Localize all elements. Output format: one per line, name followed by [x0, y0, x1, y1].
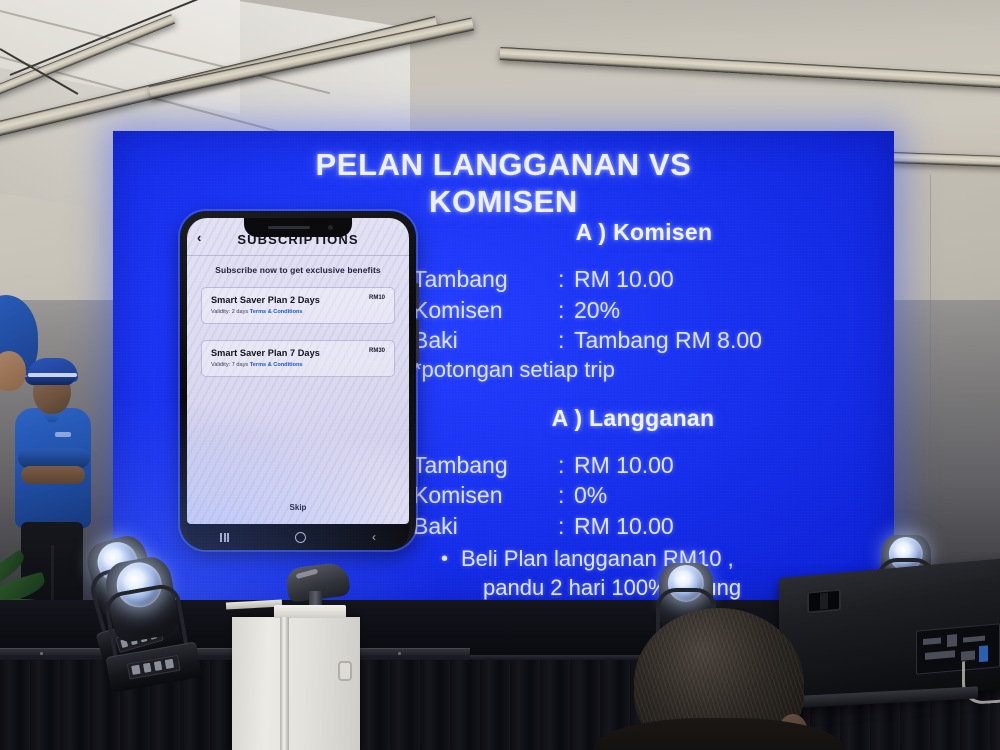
phone-power-button: [416, 319, 419, 363]
phone-mockup: ‹ SUBSCRIPTIONS Subscribe now to get exc…: [180, 211, 416, 550]
row-separator: :: [558, 450, 574, 481]
terms-link[interactable]: Terms & Conditions: [250, 309, 303, 315]
phone-screen: ‹ SUBSCRIPTIONS Subscribe now to get exc…: [187, 218, 409, 524]
row-label: Baki: [413, 325, 558, 356]
row-separator: :: [558, 264, 574, 295]
slide-section-komisen: A ) Komisen Tambang : RM 10.00 Komisen :…: [413, 219, 883, 383]
validity-label: Validity:: [211, 309, 230, 315]
row-label: Tambang: [413, 450, 558, 481]
komisen-row-komisen: Komisen : 20%: [413, 295, 883, 326]
case-latch[interactable]: [338, 661, 352, 681]
section-heading-langganan: A ) Langganan: [383, 405, 883, 432]
white-flight-case: [232, 617, 360, 750]
clamp-highlight: [296, 569, 319, 580]
phone-notch: [244, 218, 352, 237]
plan-meta: Validity: 2 days Terms & Conditions: [211, 309, 385, 315]
skip-button[interactable]: Skip: [187, 503, 409, 512]
validity-value: 7 days: [232, 362, 248, 368]
back-chevron-icon[interactable]: ‹: [197, 231, 201, 244]
langganan-row-baki: Baki : RM 10.00: [413, 511, 883, 542]
row-value: RM 10.00: [574, 264, 883, 295]
plan-card-2-days[interactable]: Smart Saver Plan 2 Days RM10 Validity: 2…: [201, 287, 395, 324]
langganan-row-tambang: Tambang : RM 10.00: [413, 450, 883, 481]
validity-label: Validity:: [211, 362, 230, 368]
home-icon[interactable]: [295, 532, 306, 543]
plan-name: Smart Saver Plan 2 Days: [211, 295, 385, 305]
front-camera-icon: [328, 225, 333, 230]
plan-name: Smart Saver Plan 7 Days: [211, 348, 385, 358]
row-separator: :: [558, 295, 574, 326]
row-value: 20%: [574, 295, 883, 326]
langganan-rows: Tambang : RM 10.00 Komisen : 0% Baki : R…: [413, 450, 883, 542]
plan-card-7-days[interactable]: Smart Saver Plan 7 Days RM30 Validity: 7…: [201, 340, 395, 377]
app-subtitle: Subscribe now to get exclusive benefits: [187, 265, 409, 275]
attendee-shirt-logo: [55, 432, 71, 437]
slide-title: PELAN LANGGANAN VS KOMISEN: [113, 147, 894, 220]
android-nav-bar: ‹: [187, 524, 409, 550]
row-label: Tambang: [413, 264, 558, 295]
row-value: RM 10.00: [574, 511, 883, 542]
recents-icon[interactable]: [220, 533, 229, 542]
komisen-row-tambang: Tambang : RM 10.00: [413, 264, 883, 295]
slide-section-langganan: A ) Langganan Tambang : RM 10.00 Komisen…: [413, 405, 883, 602]
row-value: 0%: [574, 480, 883, 511]
row-label: Komisen: [413, 295, 558, 326]
back-icon[interactable]: ‹: [372, 531, 376, 543]
terms-link[interactable]: Terms & Conditions: [250, 362, 303, 368]
event-photo-scene: PELAN LANGGANAN VS KOMISEN A ) Komisen T…: [0, 0, 1000, 750]
light-control-panel[interactable]: [127, 655, 181, 680]
row-value: RM 10.00: [574, 450, 883, 481]
phone-volume-button: [416, 283, 419, 309]
langganan-row-komisen: Komisen : 0%: [413, 480, 883, 511]
row-label: Komisen: [413, 480, 558, 511]
plan-price: RM30: [369, 348, 385, 354]
plan-meta: Validity: 7 days Terms & Conditions: [211, 362, 385, 368]
audience-shoulders: [594, 718, 844, 750]
komisen-row-baki: Baki : Tambang RM 8.00: [413, 325, 883, 356]
row-separator: :: [558, 325, 574, 356]
row-value: Tambang RM 8.00: [574, 325, 883, 356]
earpiece-speaker-icon: [268, 226, 310, 229]
slide-title-line-1: PELAN LANGGANAN VS: [113, 147, 894, 184]
attendee-arm-upper: [18, 448, 90, 468]
attendee-forearm: [21, 466, 85, 484]
row-separator: :: [558, 511, 574, 542]
slide-content-column: A ) Komisen Tambang : RM 10.00 Komisen :…: [413, 219, 883, 602]
header-divider: [187, 255, 409, 256]
attendee-cap-brim: [25, 377, 75, 385]
komisen-footnote: *potongan setiap trip: [413, 357, 883, 383]
section-heading-komisen: A ) Komisen: [405, 219, 883, 246]
row-label: Baki: [413, 511, 558, 542]
led-presentation-screen: PELAN LANGGANAN VS KOMISEN A ) Komisen T…: [113, 131, 894, 605]
row-separator: :: [558, 480, 574, 511]
case-seam: [280, 617, 289, 750]
validity-value: 2 days: [232, 309, 248, 315]
bullet-dot-icon: •: [441, 545, 461, 601]
foreground-audience-member: [616, 608, 828, 750]
komisen-rows: Tambang : RM 10.00 Komisen : 20% Baki : …: [413, 264, 883, 356]
plan-price: RM10: [369, 295, 385, 301]
